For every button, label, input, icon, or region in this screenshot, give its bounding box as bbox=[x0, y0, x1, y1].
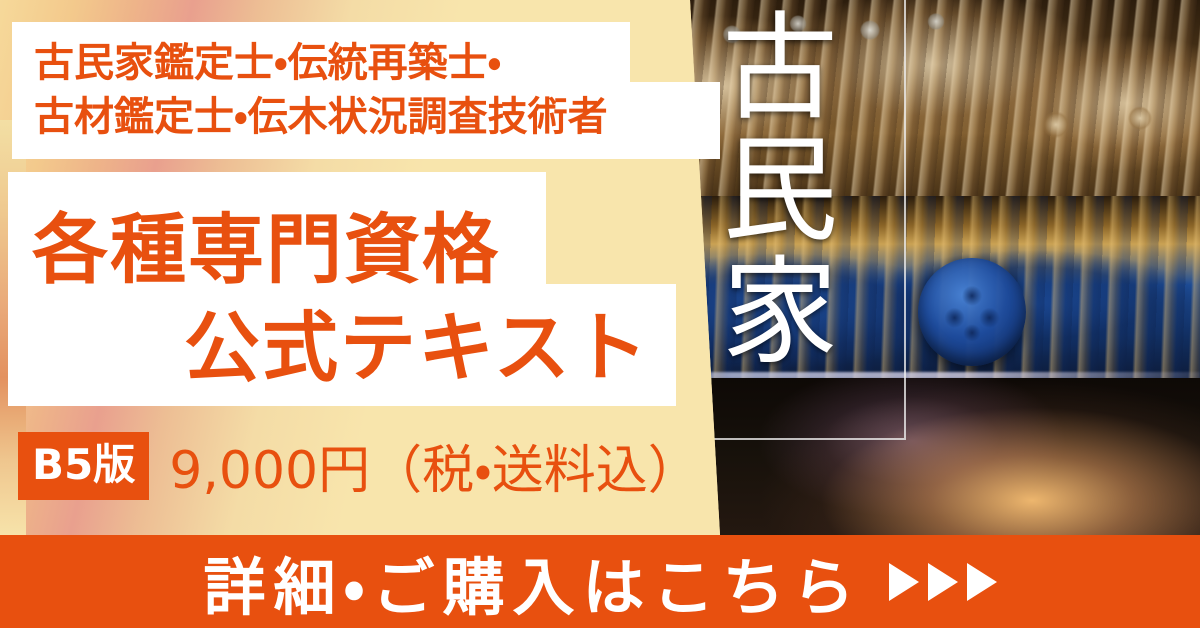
price-row: B5版 9,000円（税・送料込） bbox=[18, 428, 700, 503]
promo-banner[interactable]: 古民家 伝統構法 古民家活用のための調査と再生の 古民家鑑定士・伝統再築士・ 古… bbox=[0, 0, 1200, 628]
headline-line-2: 公式テキスト bbox=[184, 286, 650, 396]
price-amount: 9,000円（税・送料込） bbox=[169, 428, 700, 503]
cta-label[interactable]: 詳細・ご購入はこちら bbox=[203, 537, 862, 627]
cta-bar[interactable]: 詳細・ご購入はこちら bbox=[0, 535, 1200, 628]
certifications-panel: 古民家鑑定士・伝統再築士・ 古材鑑定士・伝木状況調査技術者 bbox=[12, 22, 720, 159]
size-badge: B5版 bbox=[18, 432, 149, 500]
certifications-line-2: 古材鑑定士・伝木状況調査技術者 bbox=[34, 84, 608, 142]
certifications-line-1: 古民家鑑定士・伝統再築士・ bbox=[34, 30, 501, 88]
triangle-right-icon bbox=[967, 563, 997, 601]
triangle-right-icon bbox=[928, 563, 958, 601]
book-title-vertical: 古民家 bbox=[686, 6, 836, 372]
triangle-right-icon bbox=[889, 563, 919, 601]
headline-line-1: 各種専門資格 bbox=[32, 188, 500, 298]
family-crest-medallion bbox=[918, 258, 1026, 366]
cta-arrows-icon[interactable] bbox=[889, 563, 997, 601]
